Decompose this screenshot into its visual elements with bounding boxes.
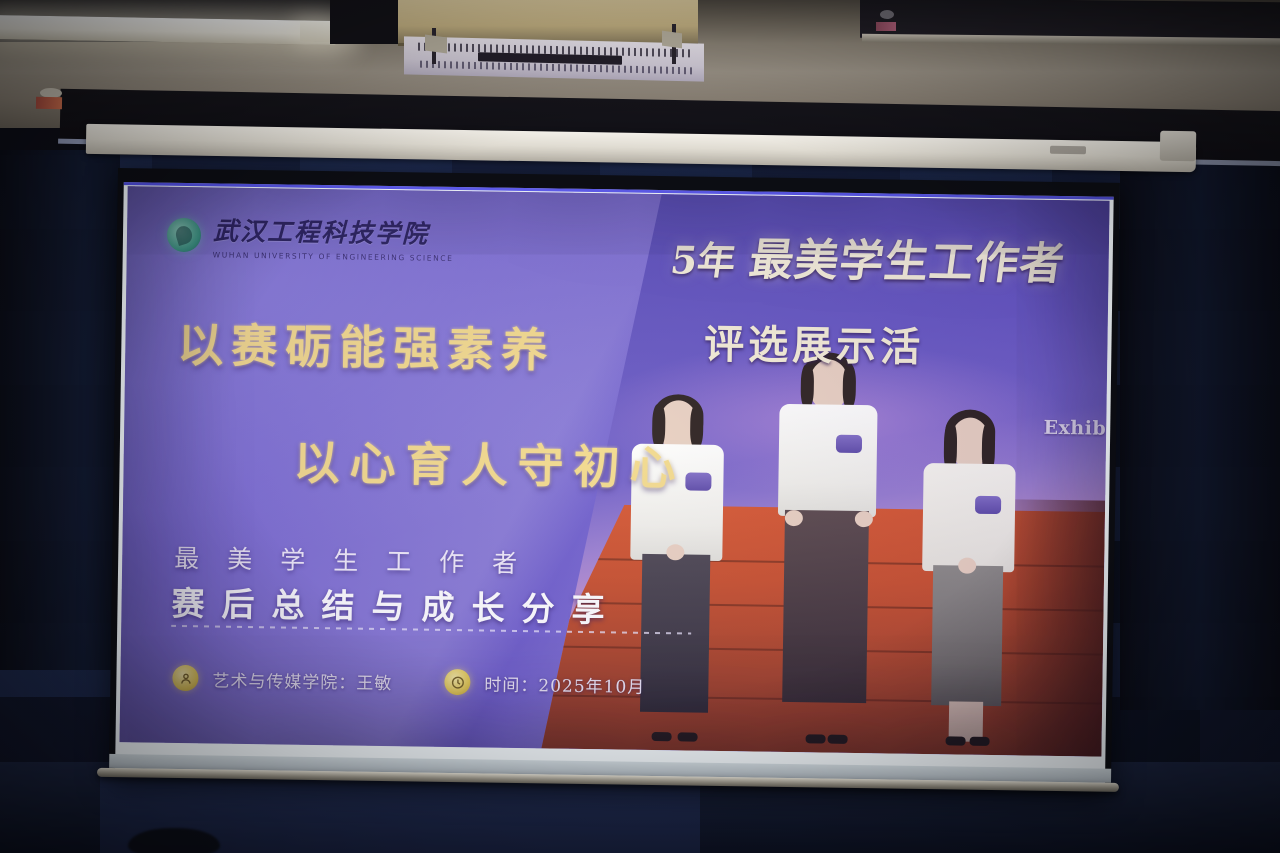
screen-roller-end-cap: [1160, 131, 1196, 162]
slide-headline-line1: 以赛砺能强素养: [177, 309, 556, 381]
slide-headline-line2: 以心育人守初心: [293, 427, 686, 499]
slide-subtitle-line2: 赛后总结与成长分享: [171, 577, 622, 632]
time-text: 时间：2025年10月: [484, 670, 645, 697]
photo-banner-title-line1: 5年最美学生工作者: [668, 222, 1070, 292]
photo-banner-title-text: 最美学生工作者: [746, 234, 1068, 290]
person-center: [766, 351, 888, 742]
projector-label: [876, 22, 896, 31]
vent-bracket-left: [425, 34, 447, 53]
projection-screen[interactable]: 5年最美学生工作者 评选展示活 'in Exhib 武汉工程科技学院 WUHAN…: [109, 168, 1120, 791]
institution-logo: 武汉工程科技学院 WUHAN UNIVERSITY OF ENGINEERING…: [167, 211, 454, 263]
vent-bracket-right: [662, 31, 682, 49]
ceiling-gap: [330, 0, 408, 44]
projected-slide: 5年最美学生工作者 评选展示活 'in Exhib 武汉工程科技学院 WUHAN…: [119, 186, 1109, 757]
foreground-object: [128, 828, 220, 853]
lecture-hall-scene: 5年最美学生工作者 评选展示活 'in Exhib 武汉工程科技学院 WUHAN…: [0, 0, 1280, 853]
name-badge-icon: [975, 496, 1001, 514]
photo-banner-english-right: Exhib: [1043, 417, 1106, 440]
person-right: [911, 409, 1024, 744]
name-badge-icon: [836, 434, 862, 452]
beam-label: [36, 97, 62, 109]
projector-lens-icon: [880, 10, 894, 19]
clock-icon: [444, 669, 470, 695]
person-badge-icon: [172, 665, 198, 691]
photo-banner-year: 5年: [668, 237, 739, 283]
wall-right-shadow: [1120, 150, 1280, 710]
screen-roller-label: [1050, 146, 1086, 155]
presenter-text: 艺术与传媒学院：王敏: [212, 666, 392, 694]
slide-subtitle-line1: 最美学生工作者: [174, 539, 546, 581]
name-badge-icon: [686, 473, 712, 491]
institution-name-cn: 武汉工程科技学院: [213, 211, 454, 251]
wall-left-shadow: [0, 150, 120, 670]
university-emblem-icon: [167, 218, 202, 253]
photo-banner-title-line2: 评选展示活: [704, 311, 925, 372]
